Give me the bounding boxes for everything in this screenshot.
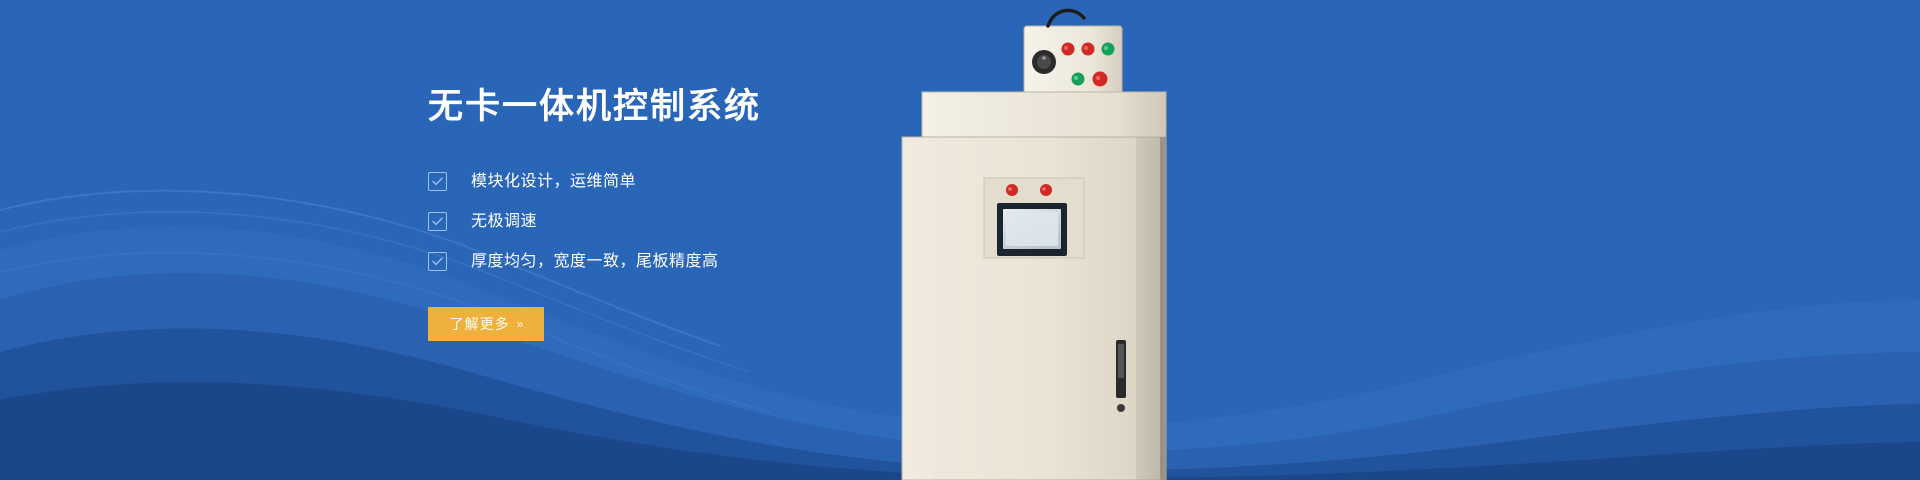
- feature-label: 厚度均匀，宽度一致，尾板精度高: [471, 254, 719, 270]
- light-red-3: [1093, 72, 1108, 87]
- check-square-icon: [428, 252, 447, 271]
- chevron-right-icon: »: [517, 317, 523, 331]
- list-item: 无极调速: [428, 212, 1068, 231]
- feature-label: 模块化设计，运维简单: [471, 174, 636, 190]
- page-title: 无卡一体机控制系统: [428, 86, 1068, 128]
- light-red-1: [1062, 43, 1075, 56]
- door-lock-icon: [1117, 404, 1125, 412]
- feature-list: 模块化设计，运维简单 无极调速 厚度均匀，宽度一致，尾板精度高: [428, 172, 1068, 271]
- learn-more-button[interactable]: 了解更多 »: [428, 307, 544, 341]
- light-green-2: [1072, 73, 1085, 86]
- learn-more-label: 了解更多: [450, 314, 510, 334]
- check-square-icon: [428, 212, 447, 231]
- cable: [1048, 10, 1084, 26]
- hero-banner: 无卡一体机控制系统 模块化设计，运维简单 无极调速: [0, 0, 1920, 480]
- check-square-icon: [428, 172, 447, 191]
- light-green-1: [1102, 43, 1115, 56]
- light-red-2: [1082, 43, 1095, 56]
- feature-label: 无极调速: [471, 214, 537, 230]
- hero-content: 无卡一体机控制系统 模块化设计，运维简单 无极调速: [428, 86, 1068, 341]
- list-item: 厚度均匀，宽度一致，尾板精度高: [428, 252, 1068, 271]
- list-item: 模块化设计，运维简单: [428, 172, 1068, 191]
